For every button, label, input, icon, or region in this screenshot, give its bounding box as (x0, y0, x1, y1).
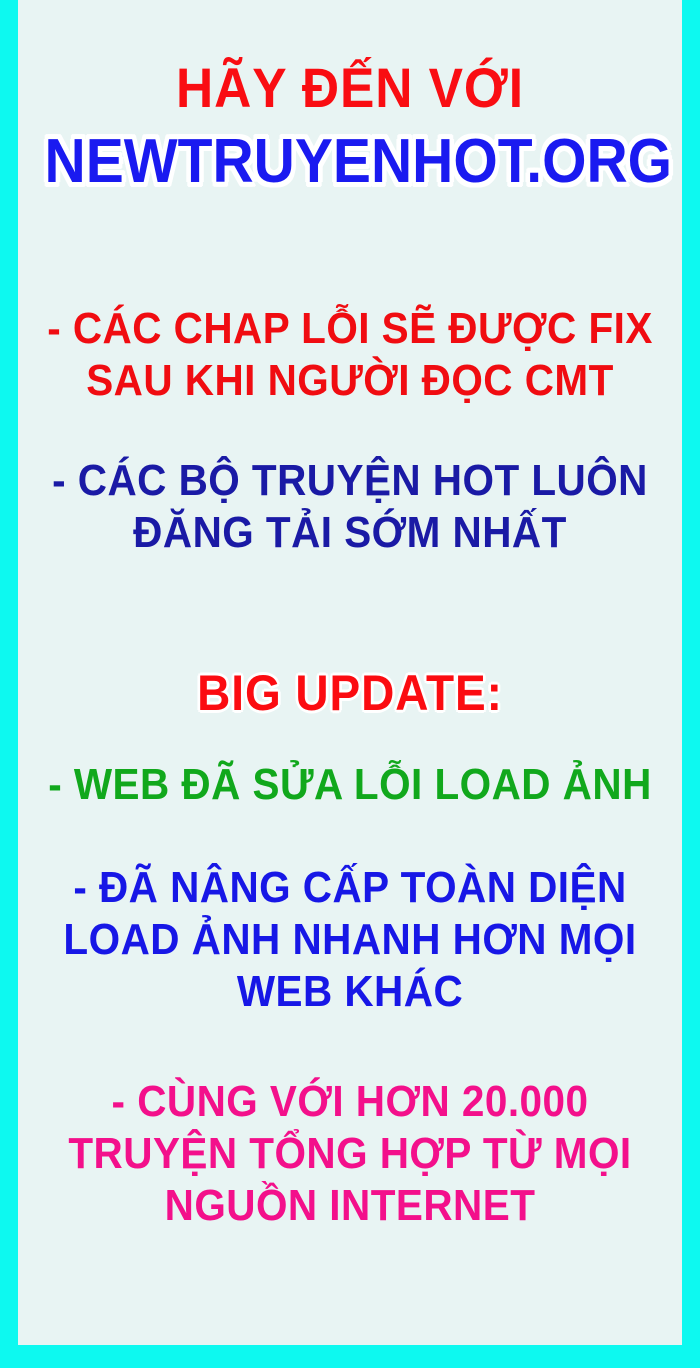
note-hot-series: - CÁC BỘ TRUYỆN HOT LUÔN ĐĂNG TẢI SỚM NH… (45, 407, 656, 559)
promo-banner: HÃY ĐẾN VỚI NEWTRUYENHOT.ORG - CÁC CHAP … (0, 0, 700, 1368)
big-update-title: BIG UPDATE: (45, 559, 656, 720)
headline-site-name: NEWTRUYENHOT.ORG (45, 117, 656, 195)
headline-come-to: HÃY ĐẾN VỚI (45, 0, 656, 117)
update-image-load-fix: - WEB ĐÃ SỬA LỖI LOAD ẢNH (45, 720, 656, 809)
update-full-upgrade: - ĐÃ NÂNG CẤP TOÀN DIỆN LOAD ẢNH NHANH H… (45, 808, 656, 1018)
update-catalog-size: - CÙNG VỚI HƠN 20.000 TRUYỆN TỔNG HỢP TỪ… (45, 1018, 656, 1232)
banner-content-panel: HÃY ĐẾN VỚI NEWTRUYENHOT.ORG - CÁC CHAP … (18, 0, 682, 1345)
note-chapter-fix: - CÁC CHAP LỖI SẼ ĐƯỢC FIX SAU KHI NGƯỜI… (45, 195, 656, 407)
